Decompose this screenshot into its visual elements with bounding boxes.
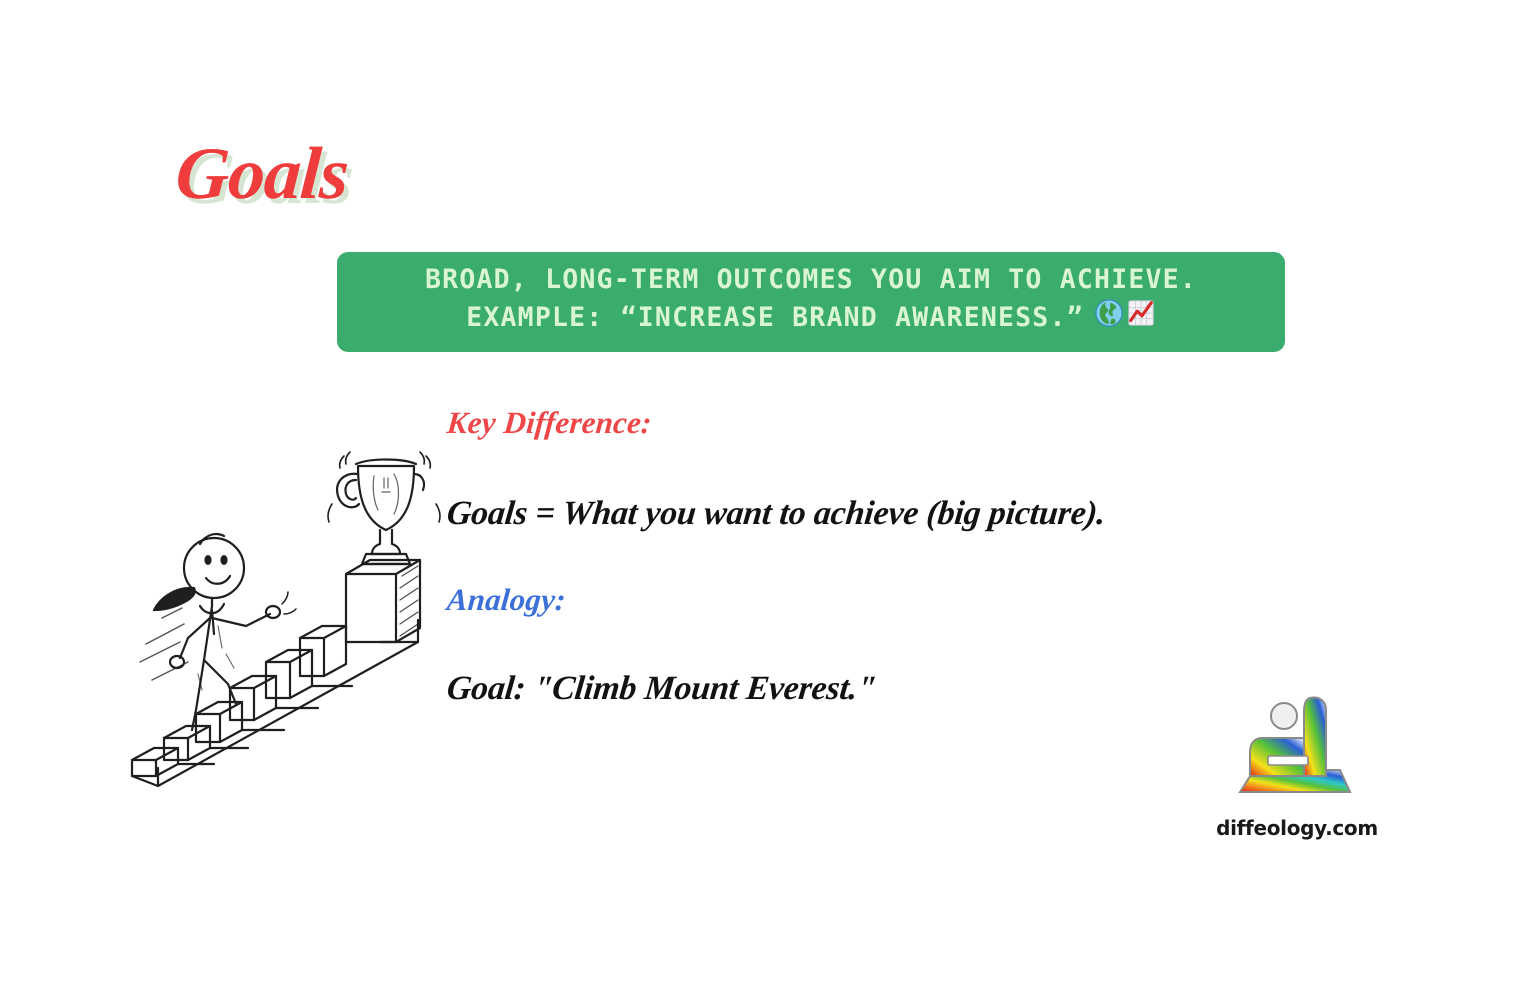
brand-name: diffeology.com	[1209, 816, 1385, 840]
globe-showing-europe-africa-icon	[1094, 298, 1124, 338]
definition-banner: BROAD, LONG-TERM OUTCOMES YOU AIM TO ACH…	[337, 252, 1285, 352]
analogy-label: Analogy:	[445, 582, 567, 618]
slide-canvas: Goals BROAD, LONG-TERM OUTCOMES YOU AIM …	[0, 0, 1536, 996]
diffeology-logo-icon	[1232, 688, 1356, 800]
definition-banner-line-2: EXAMPLE: “INCREASE BRAND AWARENESS.”	[466, 300, 1084, 336]
definition-banner-line-2-row: EXAMPLE: “INCREASE BRAND AWARENESS.”	[466, 298, 1156, 338]
page-title: Goals	[173, 137, 350, 211]
key-difference-label: Key Difference:	[445, 405, 653, 441]
analogy-example-text: Goal: "Climb Mount Everest."	[445, 670, 878, 708]
stick-figure-climbing-stairs-to-trophy-illustration	[118, 448, 458, 788]
definition-banner-line-1: BROAD, LONG-TERM OUTCOMES YOU AIM TO ACH…	[425, 262, 1197, 298]
chart-increasing-icon	[1126, 298, 1156, 338]
definition-banner-emojis	[1094, 298, 1156, 338]
goals-definition-text: Goals = What you want to achieve (big pi…	[445, 495, 1107, 533]
